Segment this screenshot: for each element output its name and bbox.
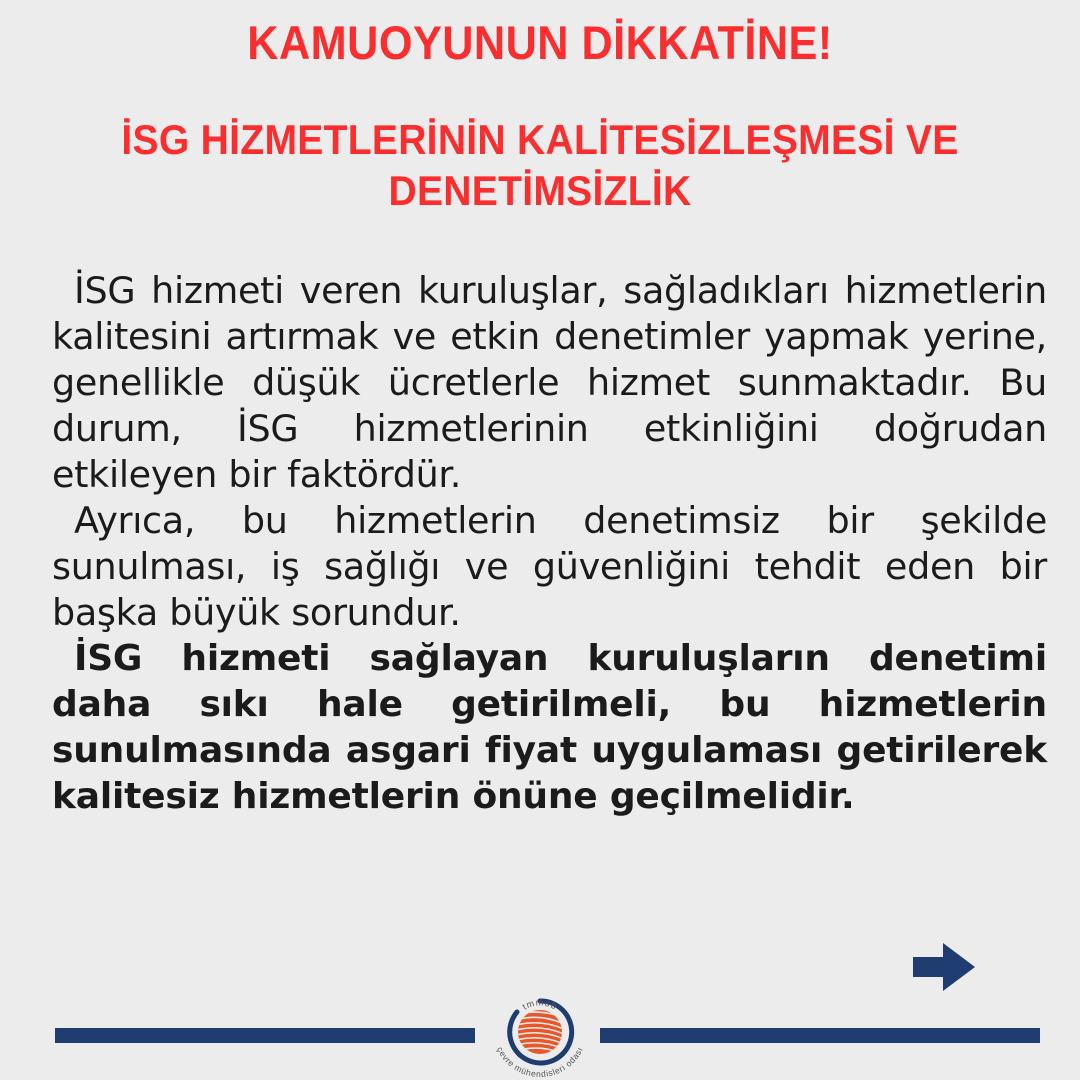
logo-top-text: tmmob xyxy=(521,997,560,1011)
rule-right xyxy=(600,1028,1040,1043)
page-title: KAMUOYUNUN DİKKATİNE! xyxy=(43,18,1037,69)
body-copy: İSG hizmeti veren kuruluşlar, sağladıkla… xyxy=(52,268,1047,820)
paragraph-1: İSG hizmeti veren kuruluşlar, sağladıkla… xyxy=(52,268,1047,498)
rule-left xyxy=(55,1028,475,1043)
logo-globe xyxy=(516,1010,564,1054)
page-subtitle: İSG HİZMETLERİNİN KALİTESİZLEŞMESİ VE DE… xyxy=(38,114,1042,216)
paragraph-3: İSG hizmeti sağlayan kuruluşların deneti… xyxy=(52,636,1047,820)
tmmob-cevre-muhendisleri-odasi-logo: tmmob çevre mühendisleri odası xyxy=(483,986,597,1080)
poster-canvas: KAMUOYUNUN DİKKATİNE! İSG HİZMETLERİNİN … xyxy=(0,0,1080,1080)
headline-block: KAMUOYUNUN DİKKATİNE! İSG HİZMETLERİNİN … xyxy=(0,18,1080,216)
paragraph-2: Ayrıca, bu hizmetlerin denetimsiz bir şe… xyxy=(52,498,1047,636)
headline-spacer xyxy=(0,69,1080,114)
arrow-right-icon[interactable] xyxy=(913,943,975,991)
